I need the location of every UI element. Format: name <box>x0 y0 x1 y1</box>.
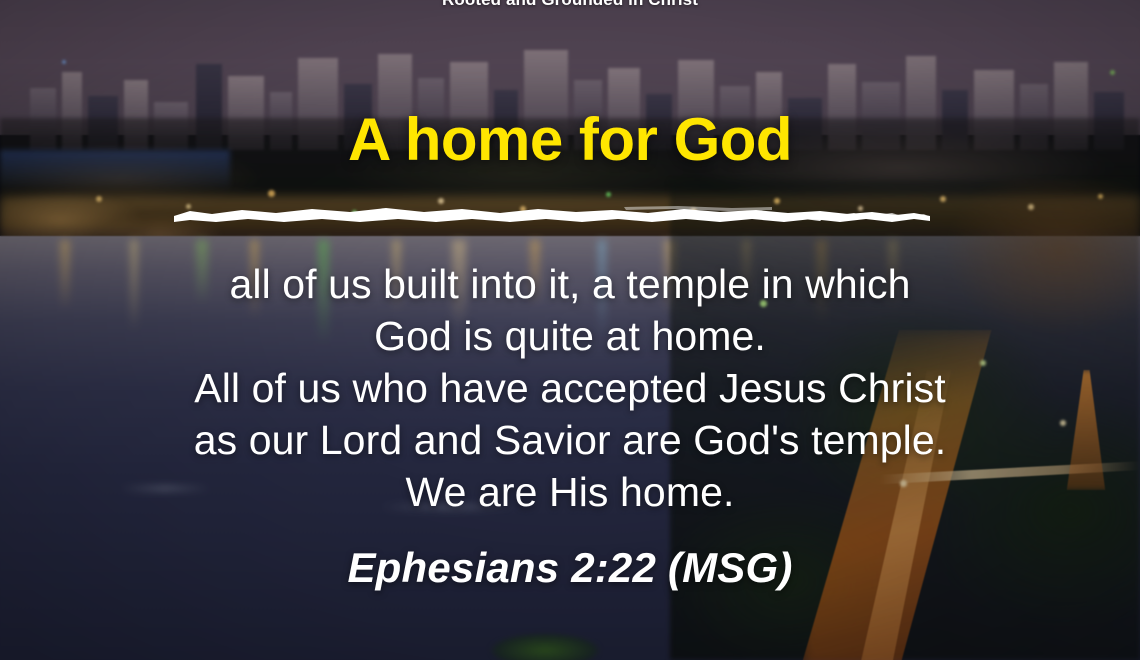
verse-line-1: all of us built into it, a temple in whi… <box>0 258 1140 310</box>
page-title: A home for God <box>0 110 1140 170</box>
scripture-reference: Ephesians 2:22 (MSG) <box>0 545 1140 591</box>
series-banner-text: Rooted and Grounded in Christ <box>0 0 1140 8</box>
verse-line-3: All of us who have accepted Jesus Christ <box>0 362 1140 414</box>
verse-line-2: God is quite at home. <box>0 310 1140 362</box>
brush-stroke-divider <box>172 200 932 232</box>
verse-line-5: We are His home. <box>0 466 1140 518</box>
verse-line-4: as our Lord and Savior are God's temple. <box>0 414 1140 466</box>
presentation-slide: Rooted and Grounded in Christ A home for… <box>0 0 1140 660</box>
slide-content: Rooted and Grounded in Christ A home for… <box>0 0 1140 660</box>
verse-text: all of us built into it, a temple in whi… <box>0 258 1140 518</box>
